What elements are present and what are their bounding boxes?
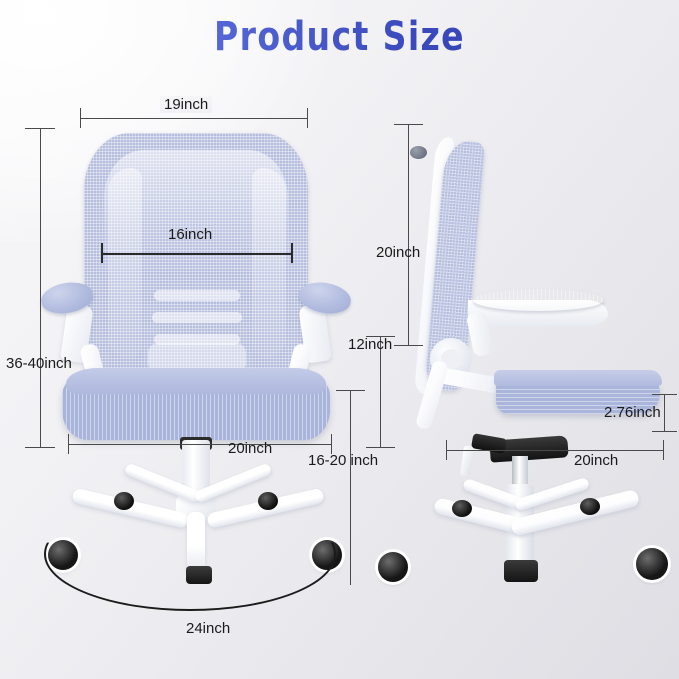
label-backrest-width: 16inch [164,226,216,243]
backrest-top-knob [410,146,427,159]
caster-left-side [378,552,408,582]
label-seat-height: 16-20 inch [308,452,378,469]
seat-cushion-top-front [66,368,326,394]
seat-cushion-top-side [494,370,662,386]
caster-right-side [636,548,668,580]
product-size-infographic: Product Size [0,0,679,679]
armrest-pad-side [473,289,604,311]
page-title: Product Size [27,14,652,60]
caster-rear-right-side [580,498,600,515]
caster-rear-right [258,492,278,510]
label-backrest-height: 20inch [376,244,420,261]
backrest-wing-right [252,168,286,358]
label-overall-height: 36-40inch [6,355,72,372]
label-armrest-height: 12inch [348,336,392,353]
label-seat-thickness: 2.76inch [604,404,661,421]
label-seat-depth: 20inch [570,452,622,469]
backrest-wing-left [108,168,142,358]
caster-rear-left [114,492,134,510]
caster-rear-left-side [452,500,472,517]
label-overall-width: 19inch [160,96,212,113]
lumbar-bar-2 [152,312,242,323]
label-base-diameter: 24inch [186,620,230,637]
lumbar-bar-1 [154,290,240,301]
label-seat-width: 20inch [224,440,276,457]
caster-front-center-side [504,560,538,582]
